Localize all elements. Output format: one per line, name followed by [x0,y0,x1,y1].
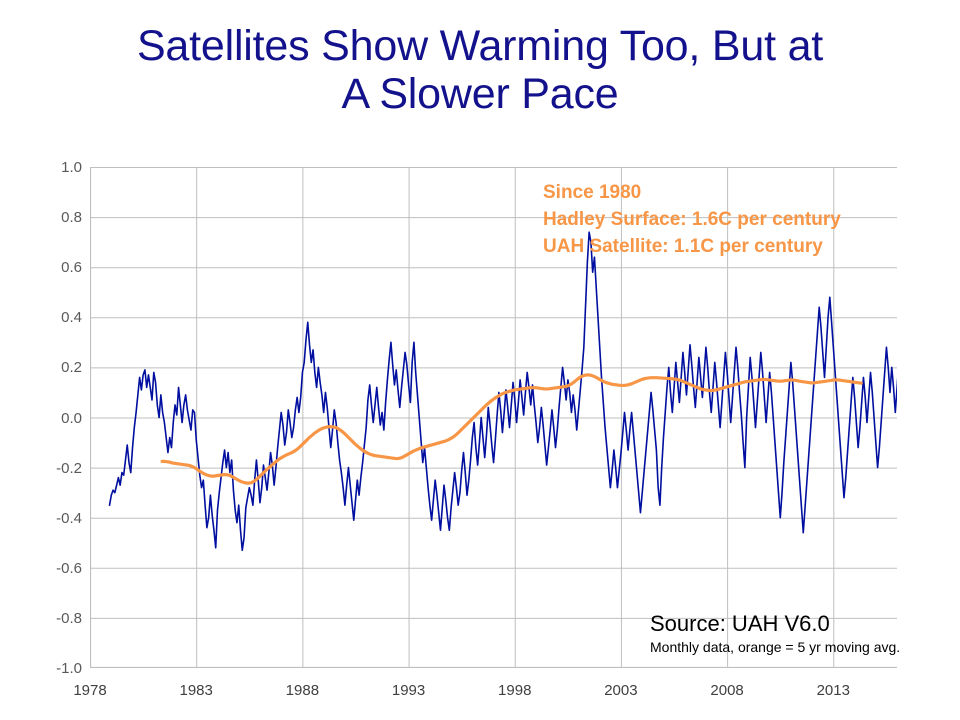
x-tick-label: 1993 [374,683,444,698]
series-line-monthly [110,232,897,550]
source-sub-text: Monthly data, orange = 5 yr moving avg. [650,640,900,656]
y-tick-label: -0.8 [36,611,82,626]
series-line-moving-average [162,375,861,483]
y-tick-label: 1.0 [36,160,82,175]
y-tick-label: 0.2 [36,360,82,375]
y-tick-label: 0.0 [36,411,82,426]
title-line-2: A Slower Pace [0,70,960,118]
slide-canvas: Satellites Show Warming Too, But at A Sl… [0,0,960,720]
page-title: Satellites Show Warming Too, But at A Sl… [0,22,960,118]
trend-line-3: UAH Satellite: 1.1C per century [543,234,841,261]
x-tick-label: 2013 [798,683,868,698]
y-tick-label: 0.6 [36,260,82,275]
y-tick-label: 0.8 [36,210,82,225]
x-tick-label: 2008 [692,683,762,698]
trend-annotation: Since 1980 Hadley Surface: 1.6C per cent… [543,180,841,261]
y-tick-label: -0.2 [36,461,82,476]
trend-line-1: Since 1980 [543,180,841,207]
trend-line-2: Hadley Surface: 1.6C per century [543,207,841,234]
x-tick-label: 2003 [586,683,656,698]
x-tick-label: 1998 [480,683,550,698]
x-tick-label: 1978 [55,683,125,698]
y-tick-label: -0.6 [36,561,82,576]
y-tick-label: 0.4 [36,310,82,325]
source-main-text: Source: UAH V6.0 [650,612,900,637]
y-tick-label: -0.4 [36,511,82,526]
title-line-1: Satellites Show Warming Too, But at [0,22,960,70]
y-tick-label: -1.0 [36,661,82,676]
source-annotation: Source: UAH V6.0 Monthly data, orange = … [650,612,900,655]
x-tick-label: 1988 [267,683,337,698]
x-tick-label: 1983 [161,683,231,698]
